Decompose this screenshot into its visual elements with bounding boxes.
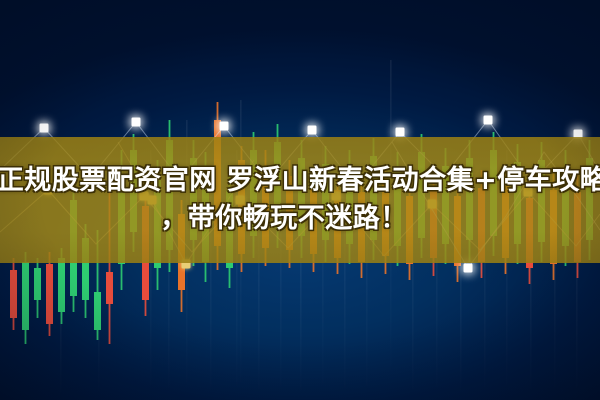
vignette-overlay bbox=[0, 0, 600, 400]
promo-banner: 正规股票配资官网 罗浮山新春活动合集+停车攻略 ，带你畅玩不迷路！ bbox=[0, 0, 600, 400]
